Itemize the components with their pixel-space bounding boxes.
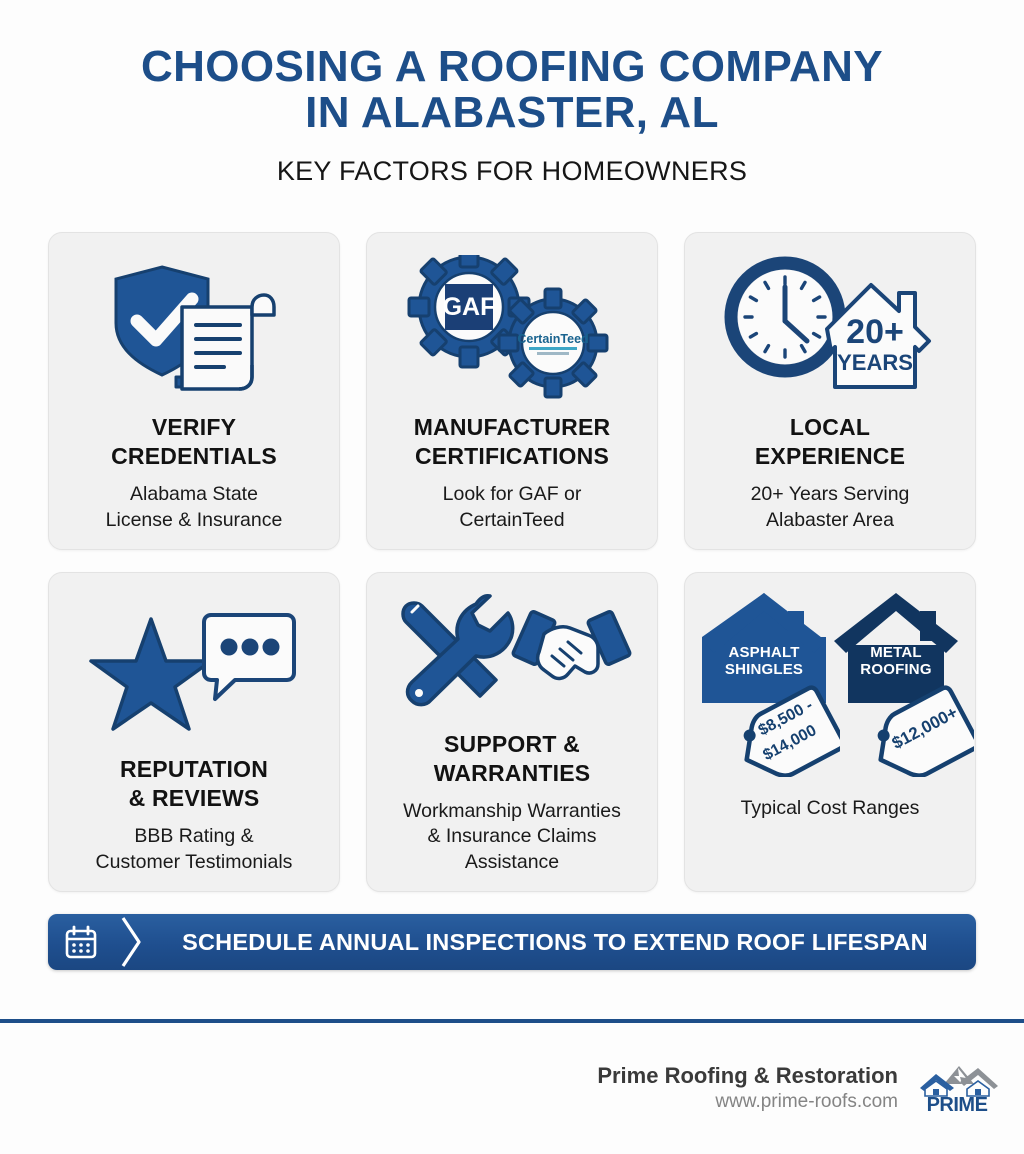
card-title-line-1: SUPPORT &: [434, 730, 591, 759]
card-desc-line-3: Assistance: [403, 850, 621, 875]
certification-gears-icon: GAF: [407, 255, 617, 405]
card-desc-line-2: & Insurance Claims: [403, 824, 621, 849]
price-tag-asphalt: $8,500 - $14,000: [736, 685, 840, 782]
card-description: Look for GAF or CertainTeed: [443, 482, 582, 533]
card-description: Alabama State License & Insurance: [106, 482, 283, 533]
icon-wrap: [63, 247, 325, 413]
price-tag-icon: $12,000+: [870, 685, 974, 777]
icon-wrap: 20+ YEARS: [699, 247, 961, 413]
card-desc-line-2: Customer Testimonials: [96, 850, 293, 875]
card-description: BBB Rating & Customer Testimonials: [96, 824, 293, 875]
page-title: CHOOSING A ROOFING COMPANY IN ALABASTER,…: [40, 44, 984, 136]
card-description: Workmanship Warranties & Insurance Claim…: [403, 799, 621, 875]
card-title-line-1: REPUTATION: [120, 755, 268, 784]
shield-check-document-icon: [104, 255, 284, 405]
footer: Prime Roofing & Restoration www.prime-ro…: [597, 1058, 1000, 1119]
title-line-2: IN ALABASTER, AL: [40, 90, 984, 136]
house-label: ASPHALT SHINGLES: [702, 645, 826, 679]
card-title-line-2: CERTIFICATIONS: [414, 442, 611, 471]
footer-text: Prime Roofing & Restoration www.prime-ro…: [597, 1063, 898, 1115]
house-label-line-2: ROOFING: [834, 662, 958, 679]
cost-houses-price-tags-icon: ASPHALT SHINGLES METAL ROOFING: [694, 587, 966, 793]
card-title-line-2: WARRANTIES: [434, 759, 591, 788]
calendar-icon: [48, 924, 114, 960]
chevron-right-icon: [114, 916, 148, 968]
house-label-line-1: METAL: [834, 645, 958, 662]
house-label-line-1: ASPHALT: [702, 645, 826, 662]
card-desc-line-1: Alabama State: [106, 482, 283, 507]
card-reputation-reviews: REPUTATION & REVIEWS BBB Rating & Custom…: [48, 572, 340, 892]
years-badge-unit: YEARS: [837, 350, 913, 375]
clock-house-icon: 20+ YEARS: [723, 255, 938, 405]
card-typical-cost-ranges: ASPHALT SHINGLES METAL ROOFING: [684, 572, 976, 892]
card-desc-line-1: 20+ Years Serving: [751, 482, 910, 507]
tools-handshake-icon: [392, 594, 632, 724]
card-desc-line-2: Alabaster Area: [751, 508, 910, 533]
logo-wordmark: PRIME: [927, 1094, 988, 1114]
icon-wrap: [63, 587, 325, 755]
footer-divider: [0, 1019, 1024, 1023]
card-title: MANUFACTURER CERTIFICATIONS: [414, 413, 611, 471]
cta-banner[interactable]: SCHEDULE ANNUAL INSPECTIONS TO EXTEND RO…: [48, 914, 976, 970]
brand-name: Prime Roofing & Restoration: [597, 1063, 898, 1089]
card-title-line-1: MANUFACTURER: [414, 413, 611, 442]
card-title-line-1: VERIFY: [111, 413, 277, 442]
card-title: REPUTATION & REVIEWS: [120, 755, 268, 813]
years-badge-number: 20+: [846, 313, 904, 351]
infographic-page: CHOOSING A ROOFING COMPANY IN ALABASTER,…: [0, 0, 1024, 1154]
card-verify-credentials: VERIFY CREDENTIALS Alabama State License…: [48, 232, 340, 550]
handshake-icon: [512, 610, 630, 678]
page-subtitle: KEY FACTORS FOR HOMEOWNERS: [40, 156, 984, 187]
title-line-1: CHOOSING A ROOFING COMPANY: [141, 42, 883, 91]
speech-bubble-icon: [204, 615, 294, 699]
card-desc-line-1: Workmanship Warranties: [403, 799, 621, 824]
card-manufacturer-certifications: GAF: [366, 232, 658, 550]
price-tag-metal: $12,000+: [870, 685, 974, 782]
card-desc-line-2: CertainTeed: [443, 508, 582, 533]
header: CHOOSING A ROOFING COMPANY IN ALABASTER,…: [0, 0, 1024, 187]
brand-website[interactable]: www.prime-roofs.com: [597, 1090, 898, 1115]
card-title-line-2: EXPERIENCE: [755, 442, 905, 471]
card-description: 20+ Years Serving Alabaster Area: [751, 482, 910, 533]
house-label-line-2: SHINGLES: [702, 662, 826, 679]
icon-wrap: GAF: [381, 247, 643, 413]
icon-wrap: [381, 587, 643, 730]
card-title-line-1: LOCAL: [755, 413, 905, 442]
gaf-badge-label: GAF: [443, 293, 496, 321]
certainteed-badge-label: CertainTeed: [517, 332, 588, 346]
card-description: Typical Cost Ranges: [741, 797, 920, 820]
clock-icon: [731, 263, 839, 371]
card-desc-line-1: Look for GAF or: [443, 482, 582, 507]
card-local-experience: 20+ YEARS LOCAL EXPERIENCE 20+ Years Ser…: [684, 232, 976, 550]
house-label: METAL ROOFING: [834, 645, 958, 679]
star-icon: [91, 619, 211, 729]
card-support-warranties: SUPPORT & WARRANTIES Workmanship Warrant…: [366, 572, 658, 892]
card-desc-line-1: BBB Rating &: [96, 824, 293, 849]
card-desc-line-2: License & Insurance: [106, 508, 283, 533]
cta-label: SCHEDULE ANNUAL INSPECTIONS TO EXTEND RO…: [148, 929, 976, 956]
card-title: SUPPORT & WARRANTIES: [434, 730, 591, 788]
price-tag-icon: $8,500 - $14,000: [736, 685, 840, 777]
prime-roof-logo-icon: PRIME: [914, 1058, 1000, 1119]
star-speech-bubble-icon: [89, 601, 299, 741]
gear-certainteed-icon: CertainTeed: [499, 289, 607, 397]
card-title: VERIFY CREDENTIALS: [111, 413, 277, 471]
card-title: LOCAL EXPERIENCE: [755, 413, 905, 471]
card-title-line-2: CREDENTIALS: [111, 442, 277, 471]
card-title-line-2: & REVIEWS: [120, 784, 268, 813]
factors-grid: VERIFY CREDENTIALS Alabama State License…: [48, 232, 976, 892]
